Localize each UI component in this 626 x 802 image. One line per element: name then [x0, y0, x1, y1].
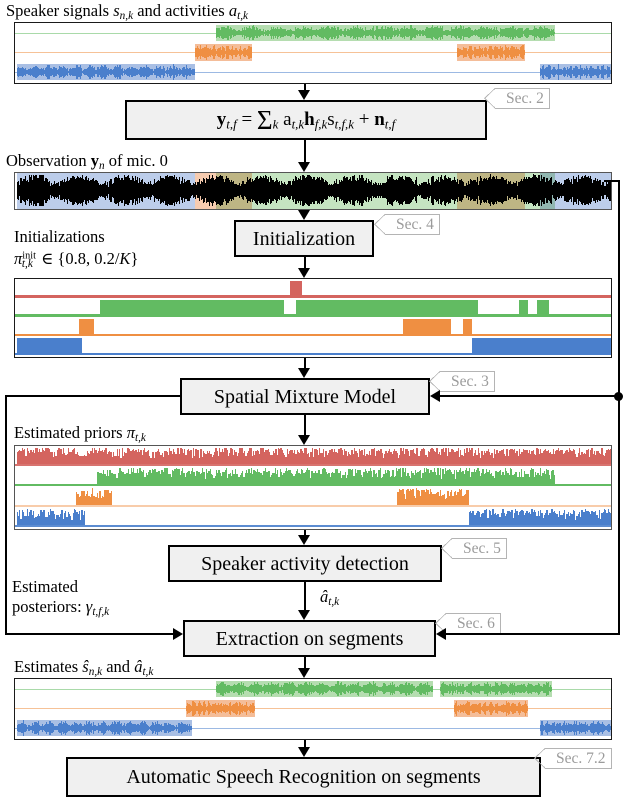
arrowhead-signals-to-equation — [298, 90, 310, 100]
feedback-right-vertical-lower — [618, 395, 620, 635]
sec-tag-speaker-activity-detection: Sec. 5 — [452, 538, 507, 559]
arrowhead-initpanel-to-smm — [298, 368, 310, 378]
sec-tag-asr-label: Sec. 7.2 — [556, 750, 606, 768]
feedback-left-into-extraction — [5, 633, 173, 635]
asr-box[interactable]: Automatic Speech Recognition on segments — [66, 757, 541, 797]
speaker-activity-detection-label: Speaker activity detection — [201, 554, 409, 574]
initializations-formula: πinitt,k ∈ {0.8, 0.2/K} — [14, 250, 138, 271]
panel-speaker-signals — [14, 22, 612, 84]
sec-tag-sad-label: Sec. 5 — [463, 540, 501, 558]
feedback-right-vertical-upper — [618, 180, 620, 395]
sec-tag-smm-label: Sec. 3 — [451, 373, 489, 391]
connector-equation-to-observation — [304, 140, 306, 164]
estimated-posteriors-label-1: Estimated — [12, 578, 78, 596]
equation-text: yt,f = Σk at,khf,kst,f,k + nt,f — [217, 107, 395, 134]
estimated-posteriors-label-2: posteriors: γt,f,k — [12, 598, 109, 619]
feedback-right-into-smm — [440, 395, 618, 397]
equation-box: yt,f = Σk at,khf,kst,f,k + nt,f — [125, 100, 487, 140]
extraction-on-segments-box[interactable]: Extraction on segments — [183, 620, 436, 657]
panel-estimates — [14, 678, 612, 740]
sec-tag-spatial-mixture-model: Sec. 3 — [440, 371, 495, 392]
arrowhead-smm-to-priors — [298, 435, 310, 445]
arrowhead-feedback-left-into-extraction — [173, 628, 183, 640]
spatial-mixture-model-label: Spatial Mixture Model — [214, 387, 396, 407]
arrowhead-feedback-into-smm — [430, 390, 440, 402]
arrowhead-feedback-into-extraction — [436, 628, 446, 640]
speaker-signals-label: Speaker signals sn,k and activities at,k — [6, 2, 248, 23]
panel-estimated-priors — [14, 445, 612, 530]
asr-label: Automatic Speech Recognition on segments — [126, 767, 480, 787]
arrowhead-sad-to-extraction — [298, 610, 310, 620]
speaker-activity-detection-box[interactable]: Speaker activity detection — [168, 545, 442, 582]
panel-initializations — [14, 278, 612, 358]
arrowhead-initialization-to-panel — [298, 268, 310, 278]
arrowhead-observation-to-initialization — [298, 210, 310, 220]
sec-tag-initialization-label: Sec. 4 — [396, 216, 434, 234]
sec-tag-initialization: Sec. 4 — [385, 214, 440, 235]
panel-observation — [14, 172, 612, 210]
initialization-label: Initialization — [253, 229, 355, 249]
feedback-right-into-extraction — [446, 633, 618, 635]
sec-tag-equation-label: Sec. 2 — [506, 90, 544, 108]
sec-tag-extraction-label: Sec. 6 — [457, 615, 495, 633]
arrowhead-extraction-to-estimates — [298, 668, 310, 678]
observation-label: Observation yn of mic. 0 — [6, 152, 168, 173]
sec-tag-asr: Sec. 7.2 — [545, 748, 612, 769]
extraction-on-segments-label: Extraction on segments — [216, 629, 404, 649]
estimates-label: Estimates ŝn,k and ât,k — [14, 658, 153, 679]
initializations-label: Initializations — [14, 228, 105, 246]
connector-sad-to-extraction — [304, 582, 306, 612]
feedback-left-from-smm — [5, 395, 180, 397]
estimated-priors-label: Estimated priors πt,k — [14, 424, 146, 445]
arrowhead-estimates-to-asr — [298, 747, 310, 757]
connector-smm-to-priors — [304, 415, 306, 435]
sec-tag-equation: Sec. 2 — [495, 88, 550, 109]
arrowhead-equation-to-observation — [298, 162, 310, 172]
sec-tag-extraction: Sec. 6 — [446, 613, 501, 634]
initialization-box[interactable]: Initialization — [234, 220, 374, 257]
arrowhead-priors-to-sad — [298, 535, 310, 545]
feedback-left-vertical — [5, 395, 7, 635]
spatial-mixture-model-box[interactable]: Spatial Mixture Model — [180, 378, 430, 415]
a-hat-edge-label: ât,k — [320, 588, 339, 609]
